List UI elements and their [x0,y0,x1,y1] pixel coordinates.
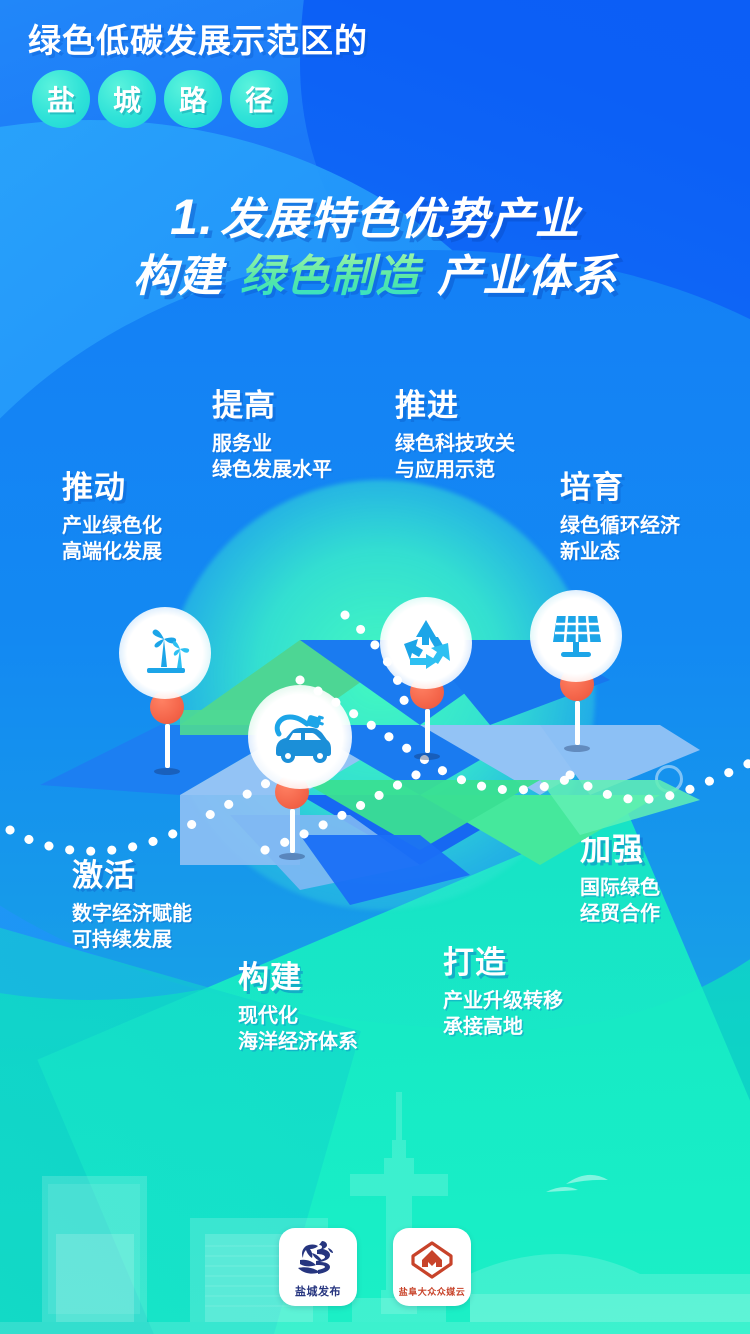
main-title-line-1: 1.发展特色优势产业 [0,185,750,249]
logo-row: 盐城发布 盐阜大众众媒云 [0,1228,750,1306]
pin-stem [425,709,430,753]
label-body-line-1: 绿色科技攻关 [395,431,515,457]
solar-panel-icon [547,610,605,662]
yancheng-release-mark-icon [292,1235,344,1281]
icon-bubble-solar[interactable] [530,590,622,682]
icon-bubble-car[interactable] [248,685,352,789]
logo-yancheng-release[interactable]: 盐城发布 [279,1228,357,1306]
label-body-line-2: 可持续发展 [72,927,192,953]
label-body-line-2: 承接高地 [443,1014,563,1040]
map-pin-wind[interactable] [150,690,184,775]
label-body: 现代化 海洋经济体系 [238,1003,358,1055]
main-title-text-1: 发展特色优势产业 [220,195,580,244]
label-tigao: 提高 服务业 绿色发展水平 [212,388,332,483]
header-badge-1: 盐 [32,70,90,128]
header-title: 绿色低碳发展示范区的 [28,14,728,62]
label-body: 产业绿色化 高端化发展 [62,513,162,565]
label-body-line-2: 与应用示范 [395,457,515,483]
logo-yanfu-media-cloud[interactable]: 盐阜大众众媒云 [393,1228,471,1306]
label-head: 构建 [238,960,358,996]
header-badge-4: 径 [230,70,288,128]
label-body-line-2: 新业态 [560,539,680,565]
label-tuidong: 推动 产业绿色化 高端化发展 [62,470,162,565]
pin-stem [575,701,580,745]
pin-stem [165,724,170,768]
label-body: 服务业 绿色发展水平 [212,431,332,483]
header-badge-3: 路 [164,70,222,128]
label-body-line-1: 现代化 [238,1003,358,1029]
label-body: 绿色科技攻关 与应用示范 [395,431,515,483]
label-body-line-2: 高端化发展 [62,539,162,565]
pin-stem [290,809,295,853]
main-title-text-2b: 产业体系 [437,252,617,301]
pin-shadow [279,853,305,860]
label-head: 推动 [62,470,162,506]
label-body-line-1: 产业绿色化 [62,513,162,539]
bird-icon [546,1175,608,1192]
label-body: 产业升级转移 承接高地 [443,988,563,1040]
electric-car-icon [266,710,334,764]
label-head: 培育 [560,470,680,506]
pin-shadow [564,745,590,752]
icon-bubble-wind[interactable] [119,607,211,699]
yanfu-media-cloud-mark-icon [409,1237,455,1283]
label-goujian: 构建 现代化 海洋经济体系 [238,960,358,1055]
logo-caption: 盐阜大众众媒云 [399,1285,466,1298]
main-title-text-2a: 构建 [133,252,223,301]
label-body-line-2: 绿色发展水平 [212,457,332,483]
main-title-line-2: 构建 绿色制造 产业体系 [0,249,750,305]
pin-shadow [414,753,440,760]
header-badge-2: 城 [98,70,156,128]
main-title-highlight: 绿色制造 [236,252,424,301]
label-body-line-1: 绿色循环经济 [560,513,680,539]
label-body-line-1: 产业升级转移 [443,988,563,1014]
pin-shadow [154,768,180,775]
label-body: 绿色循环经济 新业态 [560,513,680,565]
label-body-line-1: 服务业 [212,431,332,457]
logo-caption: 盐城发布 [295,1283,341,1299]
label-peiyu: 培育 绿色循环经济 新业态 [560,470,680,565]
label-body-line-2: 海洋经济体系 [238,1029,358,1055]
label-head: 推进 [395,388,515,424]
poster-root: 绿色低碳发展示范区的 盐 城 路 径 1.发展特色优势产业 构建 绿色制造 产业… [0,0,750,1334]
main-title: 1.发展特色优势产业 构建 绿色制造 产业体系 [0,185,750,305]
header-badge-group: 盐 城 路 径 [32,70,728,128]
recycle-icon [398,617,454,669]
dotted-route-paths [0,585,750,915]
label-head: 打造 [443,945,563,981]
isometric-map-illustration [0,585,750,915]
icon-bubble-recycle[interactable] [380,597,472,689]
label-head: 提高 [212,388,332,424]
header: 绿色低碳发展示范区的 盐 城 路 径 [28,14,728,128]
label-dazao: 打造 产业升级转移 承接高地 [443,945,563,1040]
label-tuijin: 推进 绿色科技攻关 与应用示范 [395,388,515,483]
main-title-number: 1. [170,189,214,245]
wind-turbine-icon [137,627,193,679]
